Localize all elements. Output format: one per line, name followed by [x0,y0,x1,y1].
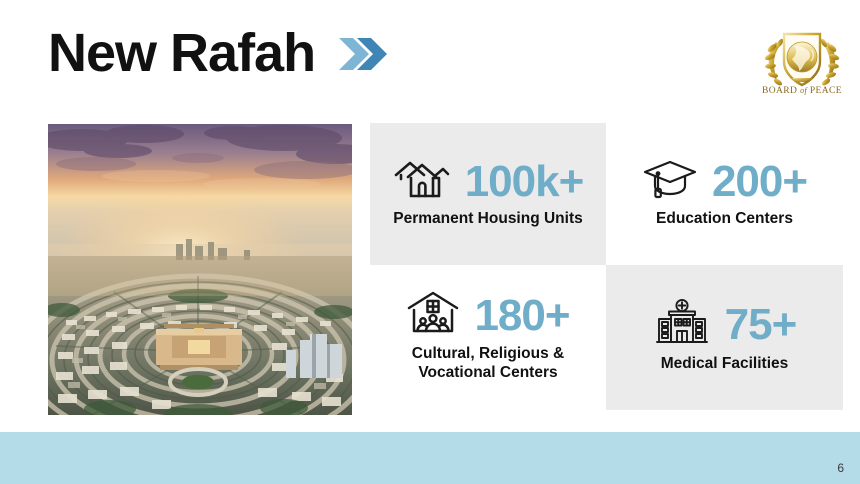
footer-bar: 6 [0,432,860,484]
logo-word-board: BOARD [762,86,797,96]
stat-top-row: 75+ [653,298,797,353]
stat-card-education-centers: 200+ Education Centers [606,123,843,265]
stat-label: Permanent Housing Units [393,210,582,229]
stat-label: Cultural, Religious & Vocational Centers [381,345,596,383]
stat-top-row: 200+ [642,155,807,208]
stat-card-medical-facilities: 75+ Medical Facilities [606,265,843,410]
page-number: 6 [837,461,844,475]
stat-card-permanent-housing-units: 100k+ Permanent Housing Units [370,123,606,265]
community-house-icon [406,288,460,343]
graduation-cap-icon [642,155,698,208]
stat-value: 100k+ [465,160,584,204]
logo-word-peace: PEACE [810,86,842,96]
two-houses-icon [393,155,451,208]
logo-wordmark: BOARD of PEACE [756,86,848,96]
stat-label: Medical Facilities [661,355,789,374]
stat-card-cultural-religious-vocational-centers: 180+ Cultural, Religious & Vocational Ce… [370,265,606,410]
stat-label: Education Centers [656,210,793,229]
double-chevron-icon [337,34,391,79]
page-title: New Rafah [48,26,315,80]
stat-top-row: 100k+ [393,155,584,208]
hospital-icon [653,298,711,353]
stat-top-row: 180+ [406,288,569,343]
stat-value: 200+ [712,160,807,204]
stat-value: 180+ [474,294,569,338]
logo-word-of: of [800,86,807,95]
aerial-city-photo [48,124,352,415]
slide-canvas: New Rafah [0,0,860,484]
title-row: New Rafah [48,26,391,80]
stat-value: 75+ [725,303,797,347]
stats-grid: 100k+ Permanent Housing Units [370,123,843,410]
